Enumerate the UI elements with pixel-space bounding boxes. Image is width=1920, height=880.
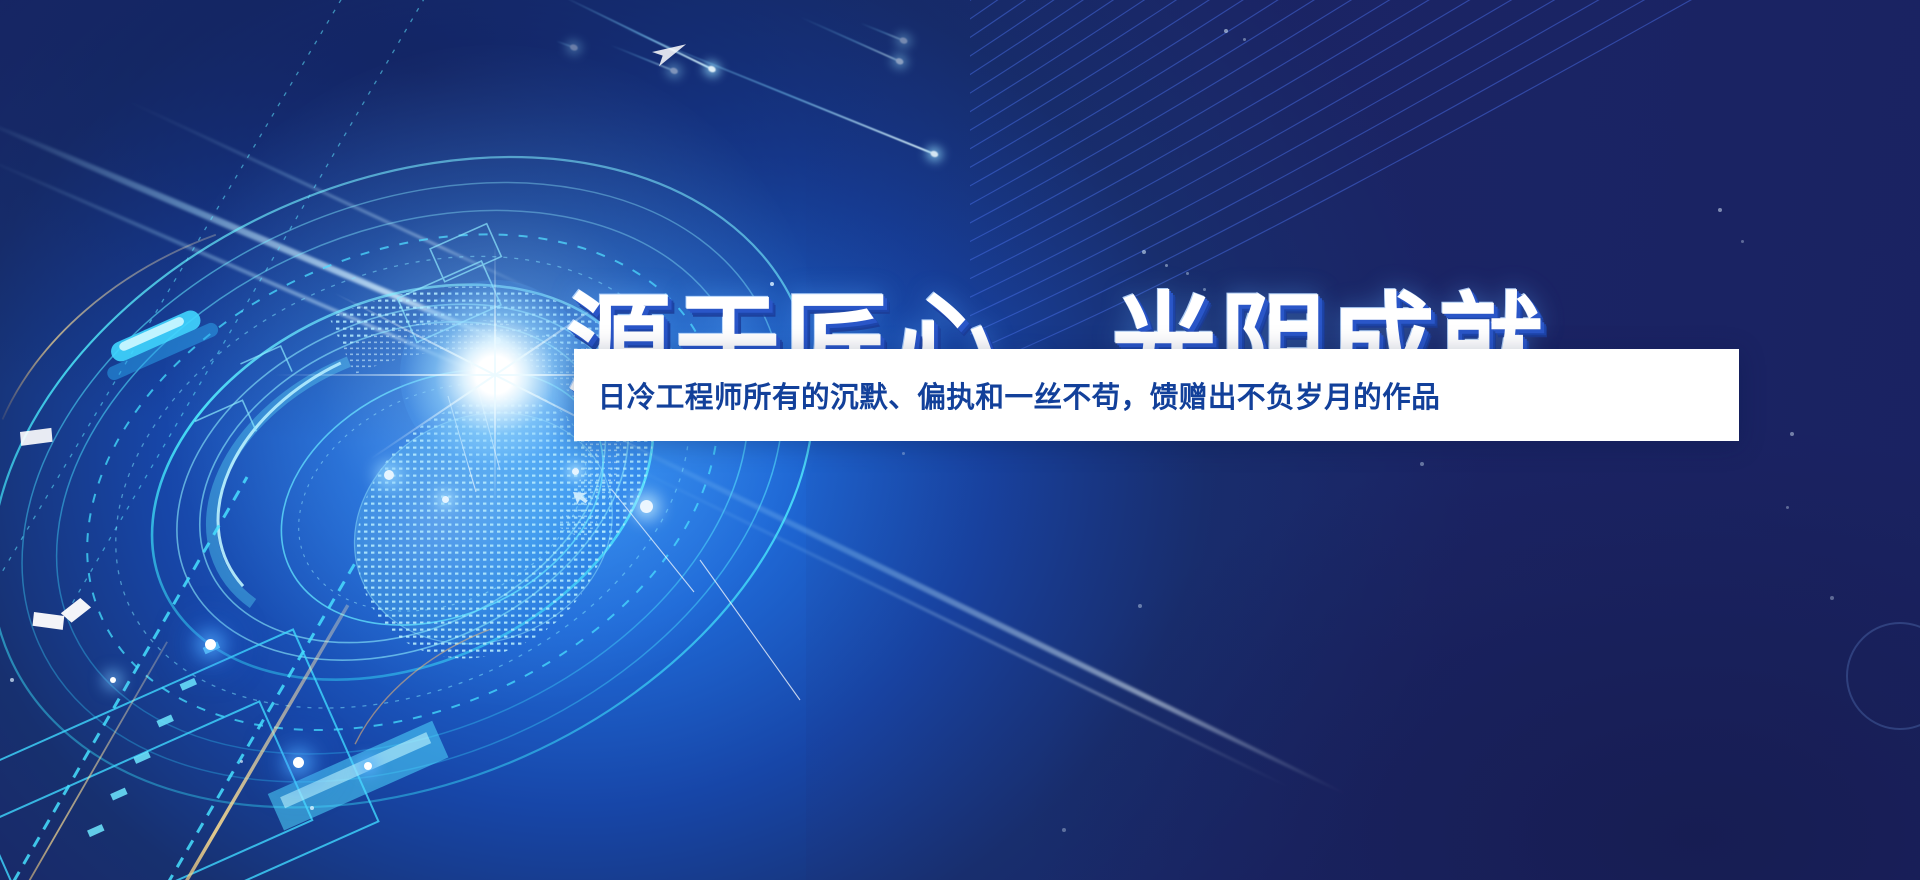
star-dot — [1138, 604, 1142, 608]
glow-dot — [205, 639, 216, 650]
background-corner-shade — [998, 405, 1920, 880]
star-dot — [240, 760, 243, 763]
star-dot — [1718, 208, 1722, 212]
star-dot — [1243, 38, 1246, 41]
star-dot — [1224, 29, 1228, 33]
glow-dot — [110, 677, 116, 683]
arrow-glyph-icon — [652, 37, 690, 66]
star-dot — [1790, 432, 1794, 436]
star-dot — [1741, 240, 1744, 243]
star-dot — [1786, 506, 1789, 509]
star-dot — [1165, 264, 1168, 267]
star-dot — [902, 452, 905, 455]
hero-banner: 源于匠心，光阴成就 日冷工程师所有的沉默、偏执和一丝不苟，馈赠出不负岁月的作品 — [0, 0, 1920, 880]
subtitle-text: 日冷工程师所有的沉默、偏执和一丝不苟，馈赠出不负岁月的作品 — [574, 374, 1440, 416]
star-dot — [1062, 828, 1066, 832]
star-dot — [310, 806, 314, 810]
chevron-glyph-icon — [16, 419, 58, 455]
star-dot — [10, 678, 14, 682]
glow-dot — [364, 762, 372, 770]
star-dot — [1420, 462, 1424, 466]
star-dot — [1830, 596, 1834, 600]
glow-dot — [293, 757, 304, 768]
star-dot — [1186, 272, 1189, 275]
subtitle-banner: 日冷工程师所有的沉默、偏执和一丝不苟，馈赠出不负岁月的作品 — [574, 349, 1739, 441]
star-dot — [1142, 250, 1146, 254]
